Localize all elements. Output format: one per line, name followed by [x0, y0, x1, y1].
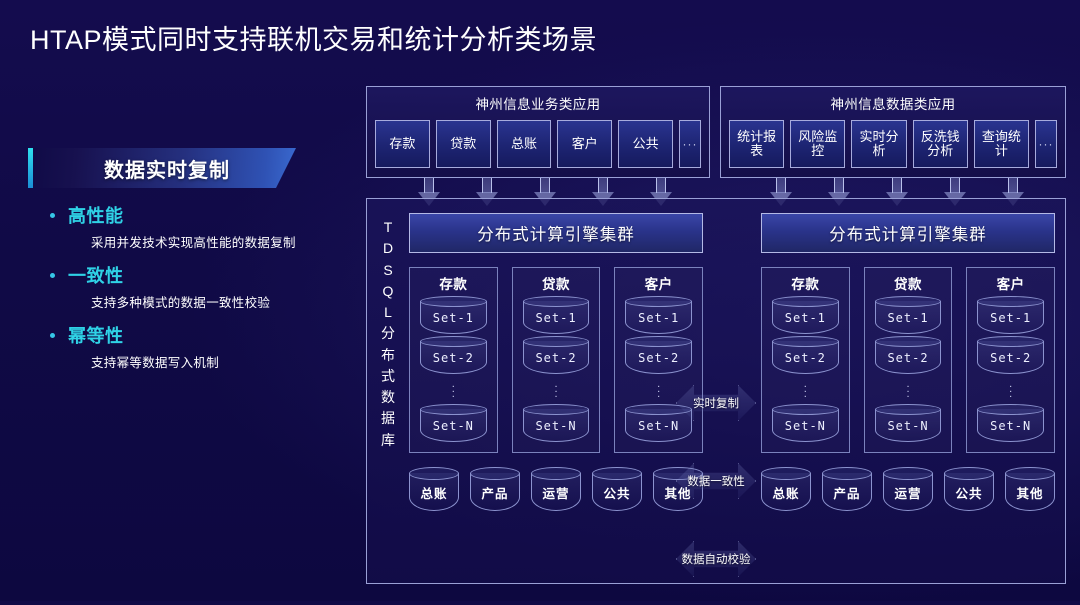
app-item-label: 总账 [509, 137, 539, 151]
app-item-more-label: ··· [1037, 138, 1056, 151]
list-item: 一致性 支持多种模式的数据一致性校验 [28, 262, 358, 311]
bullet-description: 采用并发技术实现高性能的数据复制 [91, 232, 358, 251]
app-item-label: 查询统计 [975, 130, 1028, 158]
bottom-cylinder: 运营 [531, 467, 581, 511]
app-item-label: 公共 [631, 137, 661, 151]
app-item[interactable]: 总账 [497, 120, 552, 168]
set-label: Set-N [535, 419, 576, 433]
set-label: Set-N [990, 419, 1031, 433]
section-banner-label: 数据实时复制 [94, 154, 230, 183]
set-group-title: 存款 [768, 273, 843, 293]
tdsql-label-char: 布 [375, 345, 401, 366]
set-label: Set-1 [433, 311, 474, 325]
set-cylinder: Set-2 [416, 336, 491, 374]
left-feature-panel: 数据实时复制 高性能 采用并发技术实现高性能的数据复制 一致性 支持多种模式的数… [28, 148, 358, 382]
set-cylinder: Set-N [768, 404, 843, 442]
set-label: Set-N [785, 419, 826, 433]
set-label: Set-1 [535, 311, 576, 325]
bullet-title: 高性能 [68, 202, 124, 228]
bottom-cylinder: 总账 [409, 467, 459, 511]
tdsql-label-char: 分 [375, 323, 401, 344]
app-item-label: 实时分析 [852, 130, 905, 158]
bottom-cylinder: 公共 [944, 467, 994, 511]
set-label: Set-2 [638, 351, 679, 365]
app-item[interactable]: 风险监控 [790, 120, 845, 168]
bottom-cylinder-label: 总账 [420, 483, 447, 502]
set-group-row: 存款 Set-1 Set-2 ... Set-N 贷款 Set-1 Set-2 … [409, 267, 703, 453]
compute-engine-label: 分布式计算引擎集群 [829, 221, 987, 245]
set-group-title: 存款 [416, 273, 491, 293]
set-group: 客户 Set-1 Set-2 ... Set-N [966, 267, 1055, 453]
app-item[interactable]: 公共 [618, 120, 673, 168]
compute-engine-box: 分布式计算引擎集群 [409, 213, 703, 253]
bullet-title: 幂等性 [68, 322, 124, 348]
set-label: Set-1 [638, 311, 679, 325]
set-label: Set-N [638, 419, 679, 433]
bottom-cylinder: 产品 [822, 467, 872, 511]
set-cylinder: Set-1 [768, 296, 843, 334]
bottom-cylinder-label: 其他 [1016, 483, 1043, 502]
app-item-label: 客户 [570, 137, 600, 151]
app-item-label: 风险监控 [791, 130, 844, 158]
tdsql-label-char: S [375, 260, 401, 281]
set-label: Set-1 [887, 311, 928, 325]
set-label: Set-N [433, 419, 474, 433]
bottom-cylinder-row: 总账 产品 运营 公共 其他 [409, 467, 703, 511]
set-group: 贷款 Set-1 Set-2 ... Set-N [864, 267, 953, 453]
tdsql-label-char: T [375, 217, 401, 238]
bottom-cylinder: 其他 [1005, 467, 1055, 511]
app-item-label: 存款 [387, 137, 417, 151]
tdsql-panel: T D S Q L 分 布 式 数 据 库 分布式计算引擎集群 存款 [366, 198, 1066, 584]
set-cylinder: Set-1 [416, 296, 491, 334]
set-label: Set-2 [785, 351, 826, 365]
cluster-right: 分布式计算引擎集群 存款 Set-1 Set-2 ... Set-N 贷款 Se… [761, 213, 1055, 511]
set-label: Set-2 [535, 351, 576, 365]
tdsql-label-char: 数 [375, 387, 401, 408]
app-item-more-label: ··· [680, 138, 699, 151]
bottom-cylinder-label: 产品 [481, 483, 508, 502]
application-group-title: 神州信息业务类应用 [367, 93, 709, 113]
tdsql-label-char: Q [375, 281, 401, 302]
tdsql-label-char: 库 [375, 430, 401, 451]
application-group-data: 神州信息数据类应用 统计报表 风险监控 实时分析 反洗钱分析 查询统计 ··· [720, 86, 1066, 178]
set-cylinder: Set-2 [519, 336, 594, 374]
app-item[interactable]: 客户 [557, 120, 612, 168]
set-group-title: 贷款 [871, 273, 946, 293]
vertical-ellipsis-icon: ... [768, 376, 843, 404]
set-group-title: 客户 [621, 273, 696, 293]
set-group-row: 存款 Set-1 Set-2 ... Set-N 贷款 Set-1 Set-2 … [761, 267, 1055, 453]
set-cylinder: Set-1 [871, 296, 946, 334]
set-cylinder: Set-1 [519, 296, 594, 334]
set-cylinder: Set-N [973, 404, 1048, 442]
list-item: 高性能 采用并发技术实现高性能的数据复制 [28, 202, 358, 251]
bottom-cylinder-label: 公共 [603, 483, 630, 502]
bottom-cylinder-label: 公共 [955, 483, 982, 502]
set-label: Set-N [887, 419, 928, 433]
application-item-row: 统计报表 风险监控 实时分析 反洗钱分析 查询统计 ··· [721, 120, 1065, 168]
set-cylinder: Set-1 [973, 296, 1048, 334]
set-group: 贷款 Set-1 Set-2 ... Set-N [512, 267, 601, 453]
set-label: Set-2 [887, 351, 928, 365]
set-cylinder: Set-1 [621, 296, 696, 334]
tdsql-label-char: 据 [375, 408, 401, 429]
vertical-ellipsis-icon: ... [519, 376, 594, 404]
bullet-heading-row: 一致性 [28, 262, 358, 288]
app-item[interactable]: 查询统计 [974, 120, 1029, 168]
set-group: 存款 Set-1 Set-2 ... Set-N [409, 267, 498, 453]
bottom-cylinder: 公共 [592, 467, 642, 511]
tdsql-vertical-label: T D S Q L 分 布 式 数 据 库 [375, 217, 401, 451]
tdsql-label-char: D [375, 238, 401, 259]
cluster-left: 分布式计算引擎集群 存款 Set-1 Set-2 ... Set-N 贷款 Se… [409, 213, 703, 511]
bottom-cylinder-label: 运营 [894, 483, 921, 502]
sync-arrow-label: 数据自动校验 [682, 551, 751, 567]
list-item: 幂等性 支持幂等数据写入机制 [28, 322, 358, 371]
application-group-business: 神州信息业务类应用 存款 贷款 总账 客户 公共 ··· [366, 86, 710, 178]
bullet-title: 一致性 [68, 262, 124, 288]
set-cylinder: Set-2 [621, 336, 696, 374]
app-item[interactable]: 反洗钱分析 [913, 120, 968, 168]
set-group-title: 客户 [973, 273, 1048, 293]
vertical-ellipsis-icon: ... [973, 376, 1048, 404]
set-label: Set-2 [433, 351, 474, 365]
set-cylinder: Set-2 [973, 336, 1048, 374]
set-cylinder: Set-N [416, 404, 491, 442]
bottom-cylinder: 产品 [470, 467, 520, 511]
set-group-title: 贷款 [519, 273, 594, 293]
bidirectional-arrow-icon: 实时复制 [676, 385, 756, 421]
app-item-label: 贷款 [448, 137, 478, 151]
compute-engine-label: 分布式计算引擎集群 [477, 221, 635, 245]
bottom-cylinder: 总账 [761, 467, 811, 511]
vertical-ellipsis-icon: ... [871, 376, 946, 404]
sync-arrow-label: 数据一致性 [687, 473, 745, 489]
sync-arrow-label: 实时复制 [693, 395, 739, 411]
tdsql-label-char: 式 [375, 366, 401, 387]
app-item-more[interactable]: ··· [679, 120, 701, 168]
page-title: HTAP模式同时支持联机交易和统计分析类场景 [30, 18, 597, 57]
bullet-heading-row: 高性能 [28, 202, 358, 228]
set-cylinder: Set-2 [768, 336, 843, 374]
bottom-cylinder-row: 总账 产品 运营 公共 其他 [761, 467, 1055, 511]
app-item-more[interactable]: ··· [1035, 120, 1057, 168]
slide-root: HTAP模式同时支持联机交易和统计分析类场景 数据实时复制 高性能 采用并发技术… [0, 0, 1080, 601]
set-group: 存款 Set-1 Set-2 ... Set-N [761, 267, 850, 453]
set-label: Set-2 [990, 351, 1031, 365]
application-item-row: 存款 贷款 总账 客户 公共 ··· [367, 120, 709, 168]
section-banner: 数据实时复制 [28, 148, 296, 188]
application-groups: 神州信息业务类应用 存款 贷款 总账 客户 公共 ··· 神州信息数据类应用 统… [366, 86, 1066, 186]
app-item-label: 统计报表 [730, 130, 783, 158]
bullet-dot-icon [50, 273, 55, 278]
app-item-label: 反洗钱分析 [914, 130, 967, 158]
compute-engine-box: 分布式计算引擎集群 [761, 213, 1055, 253]
app-item[interactable]: 存款 [375, 120, 430, 168]
bottom-cylinder: 运营 [883, 467, 933, 511]
vertical-ellipsis-icon: ... [416, 376, 491, 404]
bullet-heading-row: 幂等性 [28, 322, 358, 348]
bullet-description: 支持幂等数据写入机制 [91, 352, 358, 371]
set-label: Set-1 [785, 311, 826, 325]
feature-bullet-list: 高性能 采用并发技术实现高性能的数据复制 一致性 支持多种模式的数据一致性校验 … [28, 202, 358, 371]
bottom-cylinder-label: 总账 [772, 483, 799, 502]
bullet-dot-icon [50, 213, 55, 218]
application-group-title: 神州信息数据类应用 [721, 93, 1065, 113]
app-item[interactable]: 实时分析 [851, 120, 906, 168]
app-item[interactable]: 贷款 [436, 120, 491, 168]
tdsql-label-char: L [375, 302, 401, 323]
bullet-description: 支持多种模式的数据一致性校验 [91, 292, 358, 311]
set-cylinder: Set-N [871, 404, 946, 442]
set-label: Set-1 [990, 311, 1031, 325]
bullet-dot-icon [50, 333, 55, 338]
app-item[interactable]: 统计报表 [729, 120, 784, 168]
bottom-cylinder-label: 运营 [542, 483, 569, 502]
set-cylinder: Set-N [519, 404, 594, 442]
architecture-diagram: 神州信息业务类应用 存款 贷款 总账 客户 公共 ··· 神州信息数据类应用 统… [366, 86, 1066, 584]
bidirectional-arrow-icon: 数据自动校验 [676, 541, 756, 577]
set-cylinder: Set-2 [871, 336, 946, 374]
bottom-cylinder-label: 产品 [833, 483, 860, 502]
